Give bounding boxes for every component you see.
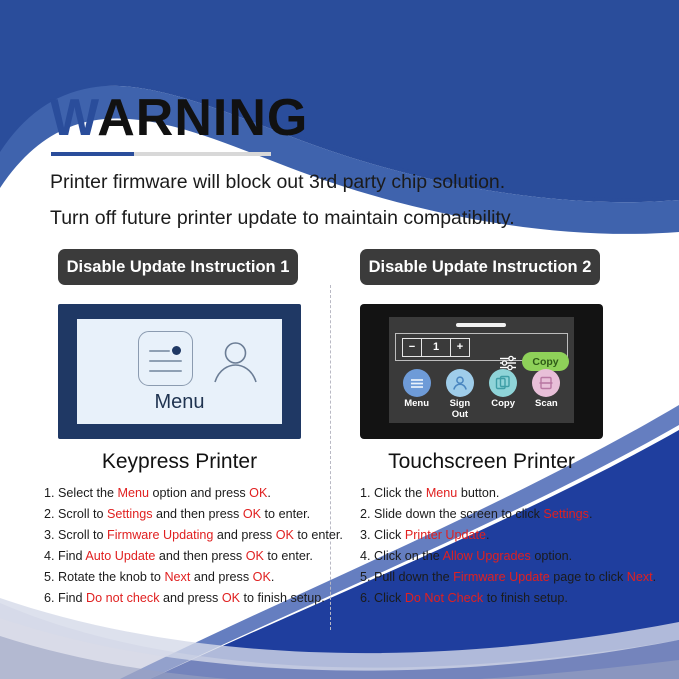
touch-icon-sign-out[interactable]: Sign Out xyxy=(441,369,479,420)
person-icon xyxy=(213,341,258,383)
step-text: to finish setup. xyxy=(240,591,325,605)
step-keyword: Menu xyxy=(118,486,150,500)
screen-top-row: − 1 + Copy xyxy=(395,333,568,361)
warning-poster: WARNING Printer firmware will block out … xyxy=(0,0,679,679)
step-text: . xyxy=(267,486,271,500)
keypress-menu-label: Menu xyxy=(77,391,282,414)
keypress-screen: Menu xyxy=(77,319,282,424)
step-text: and press xyxy=(160,591,222,605)
step-item: 6. Find Do not check and press OK to fin… xyxy=(44,588,344,609)
step-text: Pull down the xyxy=(374,570,453,584)
page-title-first-letter: W xyxy=(50,89,97,147)
step-item: 3. Click Printer Update. xyxy=(360,525,660,546)
step-number: 6. xyxy=(44,591,58,605)
step-keyword: OK xyxy=(243,507,261,521)
step-text: Click the xyxy=(374,486,426,500)
step-keyword: Auto Update xyxy=(85,549,155,563)
step-text: Scroll to xyxy=(58,528,107,542)
person-icon[interactable] xyxy=(446,369,474,397)
step-text: . xyxy=(486,528,490,542)
document-line-2 xyxy=(149,360,182,362)
step-text: Click xyxy=(374,591,405,605)
step-text: Find xyxy=(58,549,85,563)
step-text: page to click xyxy=(550,570,627,584)
step-text: Slide down the screen to click xyxy=(374,507,543,521)
step-text: and press xyxy=(190,570,252,584)
step-item: 1. Select the Menu option and press OK. xyxy=(44,483,344,504)
step-text: and then press xyxy=(155,549,245,563)
step-keyword: Menu xyxy=(426,486,458,500)
step-keyword: Next xyxy=(164,570,190,584)
stepper-value: 1 xyxy=(422,339,451,356)
step-keyword: Do Not Check xyxy=(405,591,483,605)
step-number: 3. xyxy=(360,528,374,542)
step-text: to enter. xyxy=(264,549,313,563)
title-divider-accent xyxy=(51,152,134,156)
touch-icon-menu[interactable]: Menu xyxy=(398,369,436,409)
screen-icon-row: Menu Sign Out xyxy=(395,369,568,420)
touch-icon-copy[interactable]: Copy xyxy=(484,369,522,409)
step-text: to enter. xyxy=(294,528,343,542)
subtitle-line-1: Printer firmware will block out 3rd part… xyxy=(50,171,505,194)
step-keyword: OK xyxy=(253,570,271,584)
step-number: 4. xyxy=(360,549,374,563)
step-item: 5. Pull down the Firmware Update page to… xyxy=(360,567,660,588)
step-item: 2. Scroll to Settings and then press OK … xyxy=(44,504,344,525)
step-number: 3. xyxy=(44,528,58,542)
step-keyword: Settings xyxy=(543,507,589,521)
touch-icon-scan[interactable]: Scan xyxy=(527,369,565,409)
step-text: to enter. xyxy=(261,507,310,521)
step-text: button. xyxy=(457,486,499,500)
step-keyword: OK xyxy=(246,549,264,563)
step-number: 2. xyxy=(360,507,374,521)
step-number: 4. xyxy=(44,549,58,563)
badge-instruction-1: Disable Update Instruction 1 xyxy=(58,249,298,285)
step-text: Click on the xyxy=(374,549,443,563)
steps-list-touchscreen: 1. Click the Menu button.2. Slide down t… xyxy=(360,483,660,609)
step-keyword: Firmware Updating xyxy=(107,528,213,542)
step-item: 5. Rotate the knob to Next and press OK. xyxy=(44,567,344,588)
scan-icon[interactable] xyxy=(532,369,560,397)
step-keyword: OK xyxy=(276,528,294,542)
step-text: . xyxy=(589,507,593,521)
step-number: 6. xyxy=(360,591,374,605)
subtitle-line-2: Turn off future printer update to mainta… xyxy=(50,207,515,230)
step-number: 5. xyxy=(44,570,58,584)
section-title-keypress: Keypress Printer xyxy=(58,450,301,474)
stepper-plus-button[interactable]: + xyxy=(451,339,469,356)
step-text: option and press xyxy=(149,486,249,500)
step-keyword: Allow Upgrades xyxy=(443,549,531,563)
step-number: 5. xyxy=(360,570,374,584)
section-title-touchscreen: Touchscreen Printer xyxy=(360,450,603,474)
step-keyword: Firmware Update xyxy=(453,570,550,584)
touchscreen-printer-illustration: − 1 + Copy xyxy=(360,304,603,439)
step-text: and press xyxy=(213,528,275,542)
touch-icon-sign-out-label: Sign Out xyxy=(441,398,479,420)
document-dot xyxy=(172,346,181,355)
step-text: Click xyxy=(374,528,405,542)
step-number: 2. xyxy=(44,507,58,521)
keypress-printer-illustration: Menu xyxy=(58,304,301,439)
document-line-3 xyxy=(149,370,182,372)
step-keyword: Next xyxy=(627,570,653,584)
step-keyword: OK xyxy=(249,486,267,500)
step-text: Scroll to xyxy=(58,507,107,521)
copy-icon[interactable] xyxy=(489,369,517,397)
step-text: option. xyxy=(531,549,572,563)
screen-handle-bar xyxy=(456,323,506,327)
steps-list-keypress: 1. Select the Menu option and press OK.2… xyxy=(44,483,344,609)
step-keyword: OK xyxy=(222,591,240,605)
step-item: 4. Click on the Allow Upgrades option. xyxy=(360,546,660,567)
page-title-rest: ARNING xyxy=(97,89,308,147)
step-number: 1. xyxy=(360,486,374,500)
title-divider xyxy=(51,152,271,156)
document-icon xyxy=(138,331,193,386)
step-text: . xyxy=(653,570,657,584)
page-title: WARNING xyxy=(50,92,308,144)
badge-instruction-2: Disable Update Instruction 2 xyxy=(360,249,600,285)
step-item: 3. Scroll to Firmware Updating and press… xyxy=(44,525,344,546)
hamburger-icon[interactable] xyxy=(403,369,431,397)
step-number: 1. xyxy=(44,486,58,500)
stepper-minus-button[interactable]: − xyxy=(403,339,422,356)
step-text: to finish setup. xyxy=(483,591,568,605)
touch-icon-copy-label: Copy xyxy=(484,398,522,409)
step-text: Rotate the knob to xyxy=(58,570,164,584)
document-line-1 xyxy=(149,350,170,352)
touch-icon-scan-label: Scan xyxy=(527,398,565,409)
touch-icon-menu-label: Menu xyxy=(398,398,436,409)
step-text: Find xyxy=(58,591,86,605)
step-keyword: Do not check xyxy=(86,591,160,605)
step-item: 4. Find Auto Update and then press OK to… xyxy=(44,546,344,567)
step-keyword: Settings xyxy=(107,507,153,521)
step-keyword: Printer Update xyxy=(405,528,486,542)
step-item: 6. Click Do Not Check to finish setup. xyxy=(360,588,660,609)
step-item: 1. Click the Menu button. xyxy=(360,483,660,504)
touchscreen-screen: − 1 + Copy xyxy=(389,317,574,423)
step-text: Select the xyxy=(58,486,118,500)
step-text: . xyxy=(271,570,275,584)
step-item: 2. Slide down the screen to click Settin… xyxy=(360,504,660,525)
copies-stepper[interactable]: − 1 + xyxy=(402,338,470,357)
step-text: and then press xyxy=(153,507,243,521)
